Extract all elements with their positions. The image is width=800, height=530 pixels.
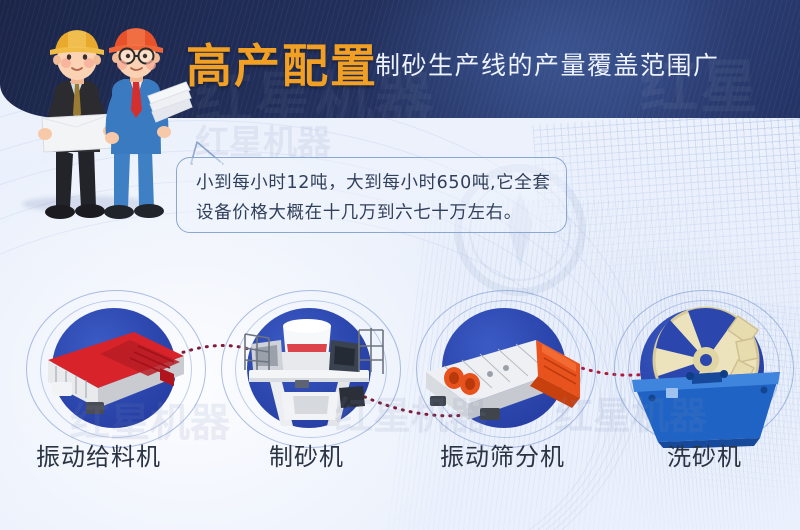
flow-node-1[interactable] xyxy=(20,288,210,448)
vibrating-screen-icon xyxy=(410,288,600,448)
page-title: 高产配置 xyxy=(186,30,378,96)
infographic-canvas: 红星机器 红星机器 高产配置 制砂生产线的产量覆盖范围广 xyxy=(0,0,800,530)
speech-bubble-text: 小到每小时12吨，大到每小时650吨,它全套 设备价格大概在十几万到六七十万左右… xyxy=(196,168,556,228)
node-label-2: 制砂机 xyxy=(269,437,344,472)
bubble-line-1: 小到每小时12吨，大到每小时650吨,它全套 xyxy=(196,168,556,198)
node-label-4: 洗砂机 xyxy=(667,437,742,472)
bubble-line-2: 设备价格大概在十几万到六七十万左右。 xyxy=(196,198,556,228)
page-subtitle: 制砂生产线的产量覆盖范围广 xyxy=(375,46,720,82)
engineer-characters xyxy=(18,22,193,237)
flow-node-4[interactable] xyxy=(608,288,798,448)
engineer-left xyxy=(38,30,117,219)
node-label-3: 振动筛分机 xyxy=(440,437,565,472)
flow-node-2[interactable] xyxy=(215,288,405,448)
vibrating-feeder-icon xyxy=(20,288,210,448)
node-label-1: 振动给料机 xyxy=(36,437,161,472)
sand-making-machine-icon xyxy=(215,288,405,448)
flow-node-3[interactable] xyxy=(410,288,600,448)
sand-washing-machine-icon xyxy=(608,288,798,448)
